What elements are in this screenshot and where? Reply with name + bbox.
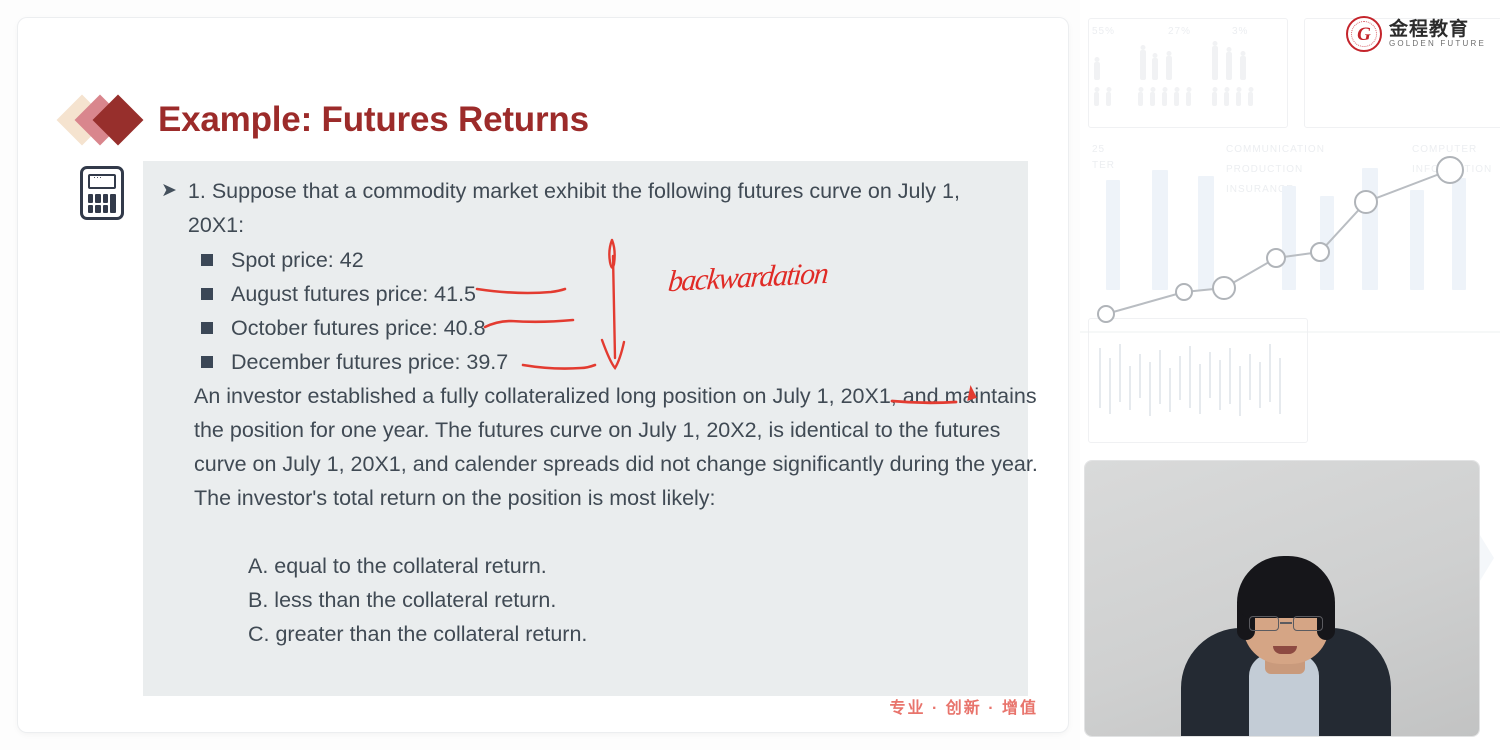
- list-item: December futures price: 39.7: [201, 345, 508, 379]
- list-item: August futures price: 41.5: [201, 277, 508, 311]
- deco-person: [1236, 92, 1241, 106]
- calculator-screen-icon: [88, 174, 116, 189]
- deco-person: [1248, 92, 1253, 106]
- deco-person: [1224, 92, 1229, 106]
- futures-price-list: Spot price: 42 August futures price: 41.…: [201, 243, 508, 379]
- deco-person: [1226, 52, 1232, 80]
- glasses-icon: [1247, 616, 1325, 632]
- slide-title-row: Example: Futures Returns: [64, 94, 589, 146]
- brand-logo: G 金程教育 GOLDEN FUTURE: [1346, 16, 1486, 52]
- deco-candlestick-chart: [1094, 328, 1304, 428]
- instructor-video-feed[interactable]: [1085, 461, 1479, 736]
- deco-label-1: 27%: [1168, 26, 1191, 37]
- calculator-keys-icon: [88, 194, 116, 213]
- deco-person: [1212, 46, 1218, 80]
- list-item: October futures price: 40.8: [201, 311, 508, 345]
- deco-person: [1240, 56, 1246, 80]
- question-lead-text: 1. Suppose that a commodity market exhib…: [188, 174, 1008, 242]
- question-lead: ➤ 1. Suppose that a commodity market exh…: [161, 174, 1011, 242]
- deco-person: [1094, 92, 1099, 106]
- deco-person: [1166, 56, 1172, 80]
- square-bullet-icon: [201, 254, 213, 266]
- question-content-box: ➤ 1. Suppose that a commodity market exh…: [143, 161, 1028, 696]
- calculator-icon: [80, 166, 124, 220]
- deco-person: [1150, 92, 1155, 106]
- question-paragraph: An investor established a fully collater…: [194, 379, 1054, 515]
- deco-person: [1140, 50, 1146, 80]
- option-c[interactable]: C. greater than the collateral return.: [248, 617, 587, 651]
- page-title: Example: Futures Returns: [158, 100, 589, 140]
- deco-person: [1152, 58, 1158, 80]
- deco-person: [1212, 92, 1217, 106]
- list-item-label: December futures price: 39.7: [231, 345, 508, 379]
- option-b[interactable]: B. less than the collateral return.: [248, 583, 587, 617]
- list-item-label: August futures price: 41.5: [231, 277, 476, 311]
- deco-person: [1174, 92, 1179, 106]
- presentation-screen: 55% 27% 3% 25 TER COMMUNICATION PRODUCTI…: [0, 0, 1500, 750]
- square-bullet-icon: [201, 356, 213, 368]
- square-bullet-icon: [201, 322, 213, 334]
- square-bullet-icon: [201, 288, 213, 300]
- logo-seal-glyph: G: [1357, 25, 1371, 44]
- deco-person: [1138, 92, 1143, 106]
- slide-footer-slogan: 专业 · 创新 · 增值: [890, 694, 1038, 718]
- option-a[interactable]: A. equal to the collateral return.: [248, 549, 587, 583]
- arrow-bullet-icon: ➤: [161, 174, 177, 242]
- deco-label-0: 55%: [1092, 26, 1115, 37]
- instructor-figure: [1181, 556, 1391, 736]
- instructor-hair: [1237, 556, 1335, 618]
- logo-name-cn: 金程教育: [1389, 20, 1486, 40]
- logo-name-en: GOLDEN FUTURE: [1389, 40, 1486, 49]
- deco-person: [1186, 92, 1191, 106]
- list-item-label: October futures price: 40.8: [231, 311, 486, 345]
- deco-label-2: 3%: [1232, 26, 1248, 37]
- deco-person: [1162, 92, 1167, 106]
- slide-panel: Example: Futures Returns ➤ 1. Suppose th…: [18, 18, 1068, 732]
- list-item-label: Spot price: 42: [231, 243, 364, 277]
- logo-seal-icon: G: [1346, 16, 1382, 52]
- deco-person: [1094, 62, 1100, 80]
- diamond-decoration-icon: [64, 94, 142, 146]
- list-item: Spot price: 42: [201, 243, 508, 277]
- deco-person: [1106, 92, 1111, 106]
- answer-options: A. equal to the collateral return. B. le…: [248, 549, 587, 651]
